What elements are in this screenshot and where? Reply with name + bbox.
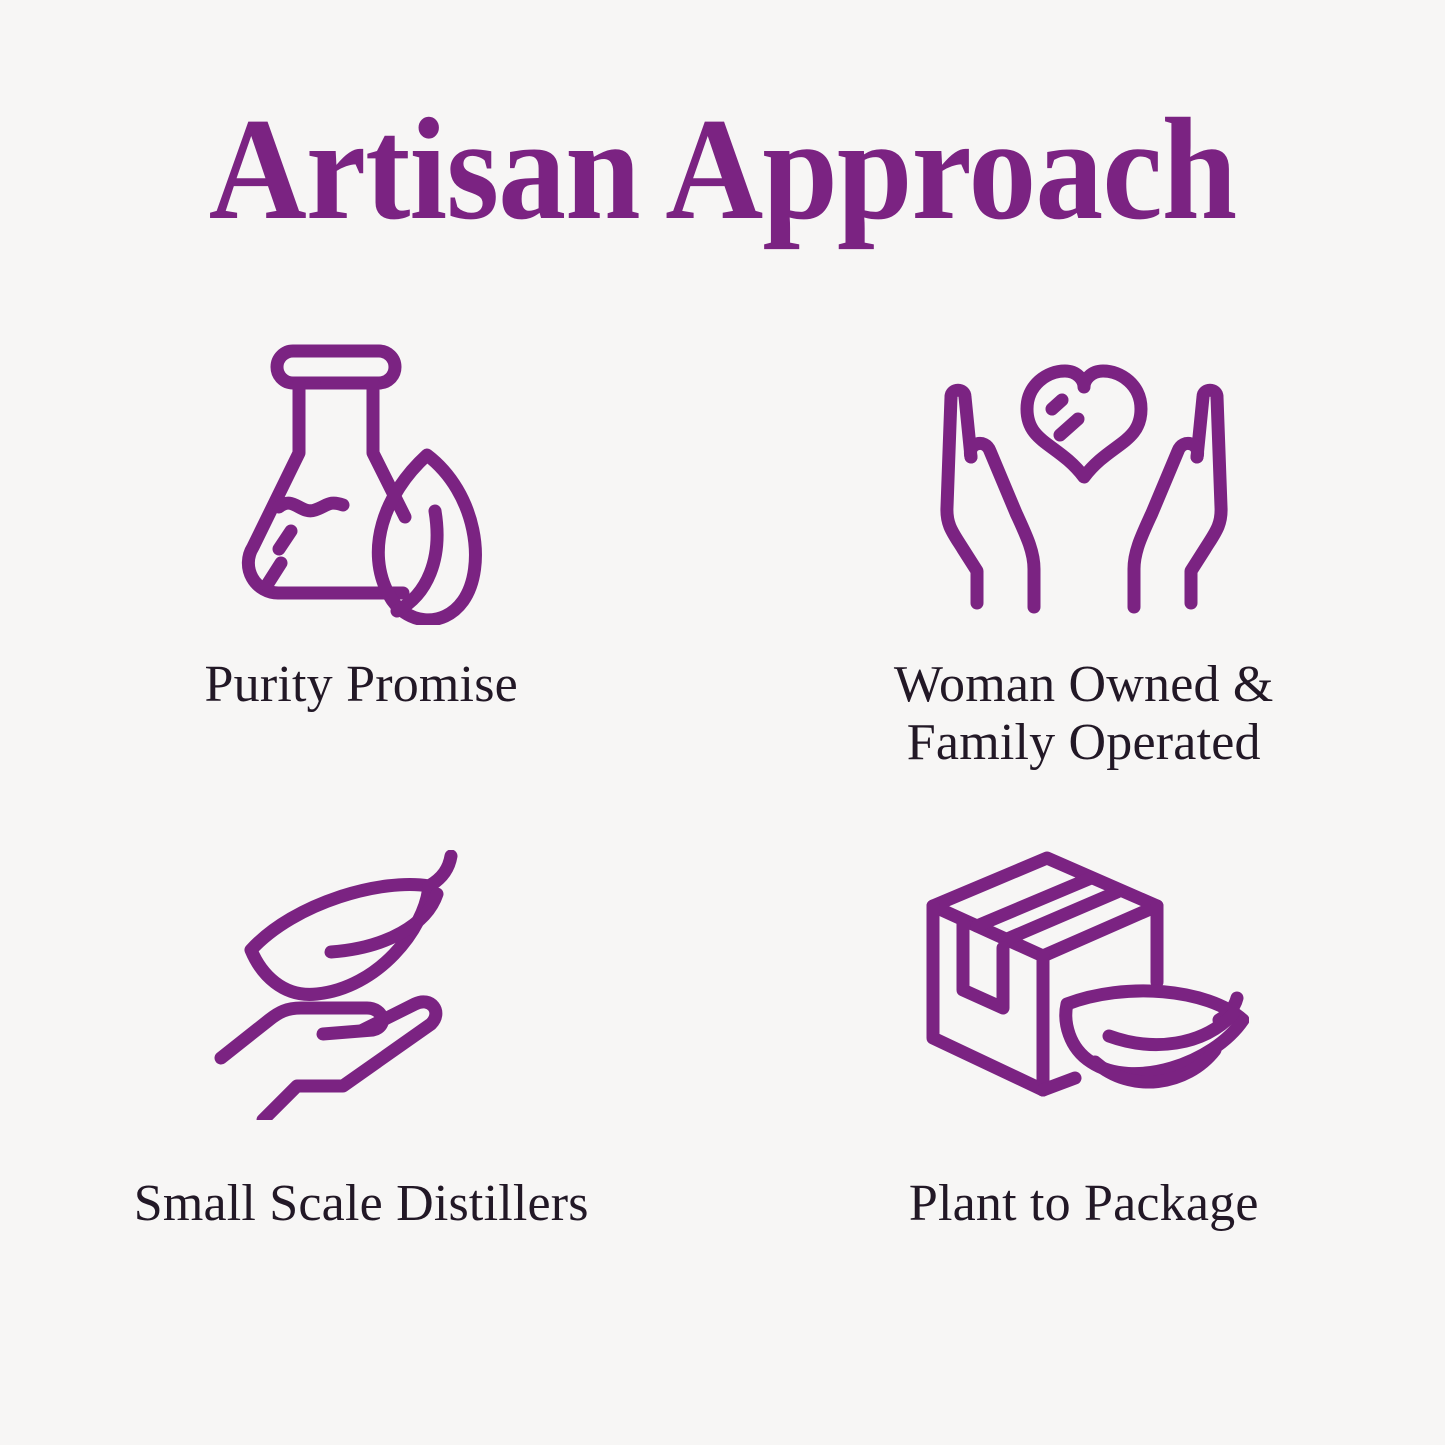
feature-item-purity-promise: Purity Promise — [0, 330, 723, 835]
hands-holding-heart-icon — [723, 330, 1445, 630]
feature-item-small-scale-distillers: Small Scale Distillers — [0, 835, 723, 1340]
feature-label-plant-to-package: Plant to Package — [909, 1175, 1259, 1233]
feature-label-small-scale-distillers: Small Scale Distillers — [134, 1175, 589, 1233]
flask-leaf-icon — [0, 330, 728, 630]
page-title: Artisan Approach — [51, 96, 1395, 242]
hand-holding-leaf-icon — [0, 835, 723, 1135]
feature-item-plant-to-package: Plant to Package — [723, 835, 1445, 1340]
feature-item-woman-owned: Woman Owned & Family Operated — [723, 330, 1445, 835]
artisan-approach-panel: Artisan Approach — [0, 0, 1445, 1445]
feature-label-purity-promise: Purity Promise — [205, 656, 518, 714]
box-leaf-icon — [723, 835, 1445, 1135]
feature-grid: Purity Promise — [0, 330, 1445, 1340]
feature-label-woman-owned: Woman Owned & Family Operated — [894, 656, 1274, 772]
